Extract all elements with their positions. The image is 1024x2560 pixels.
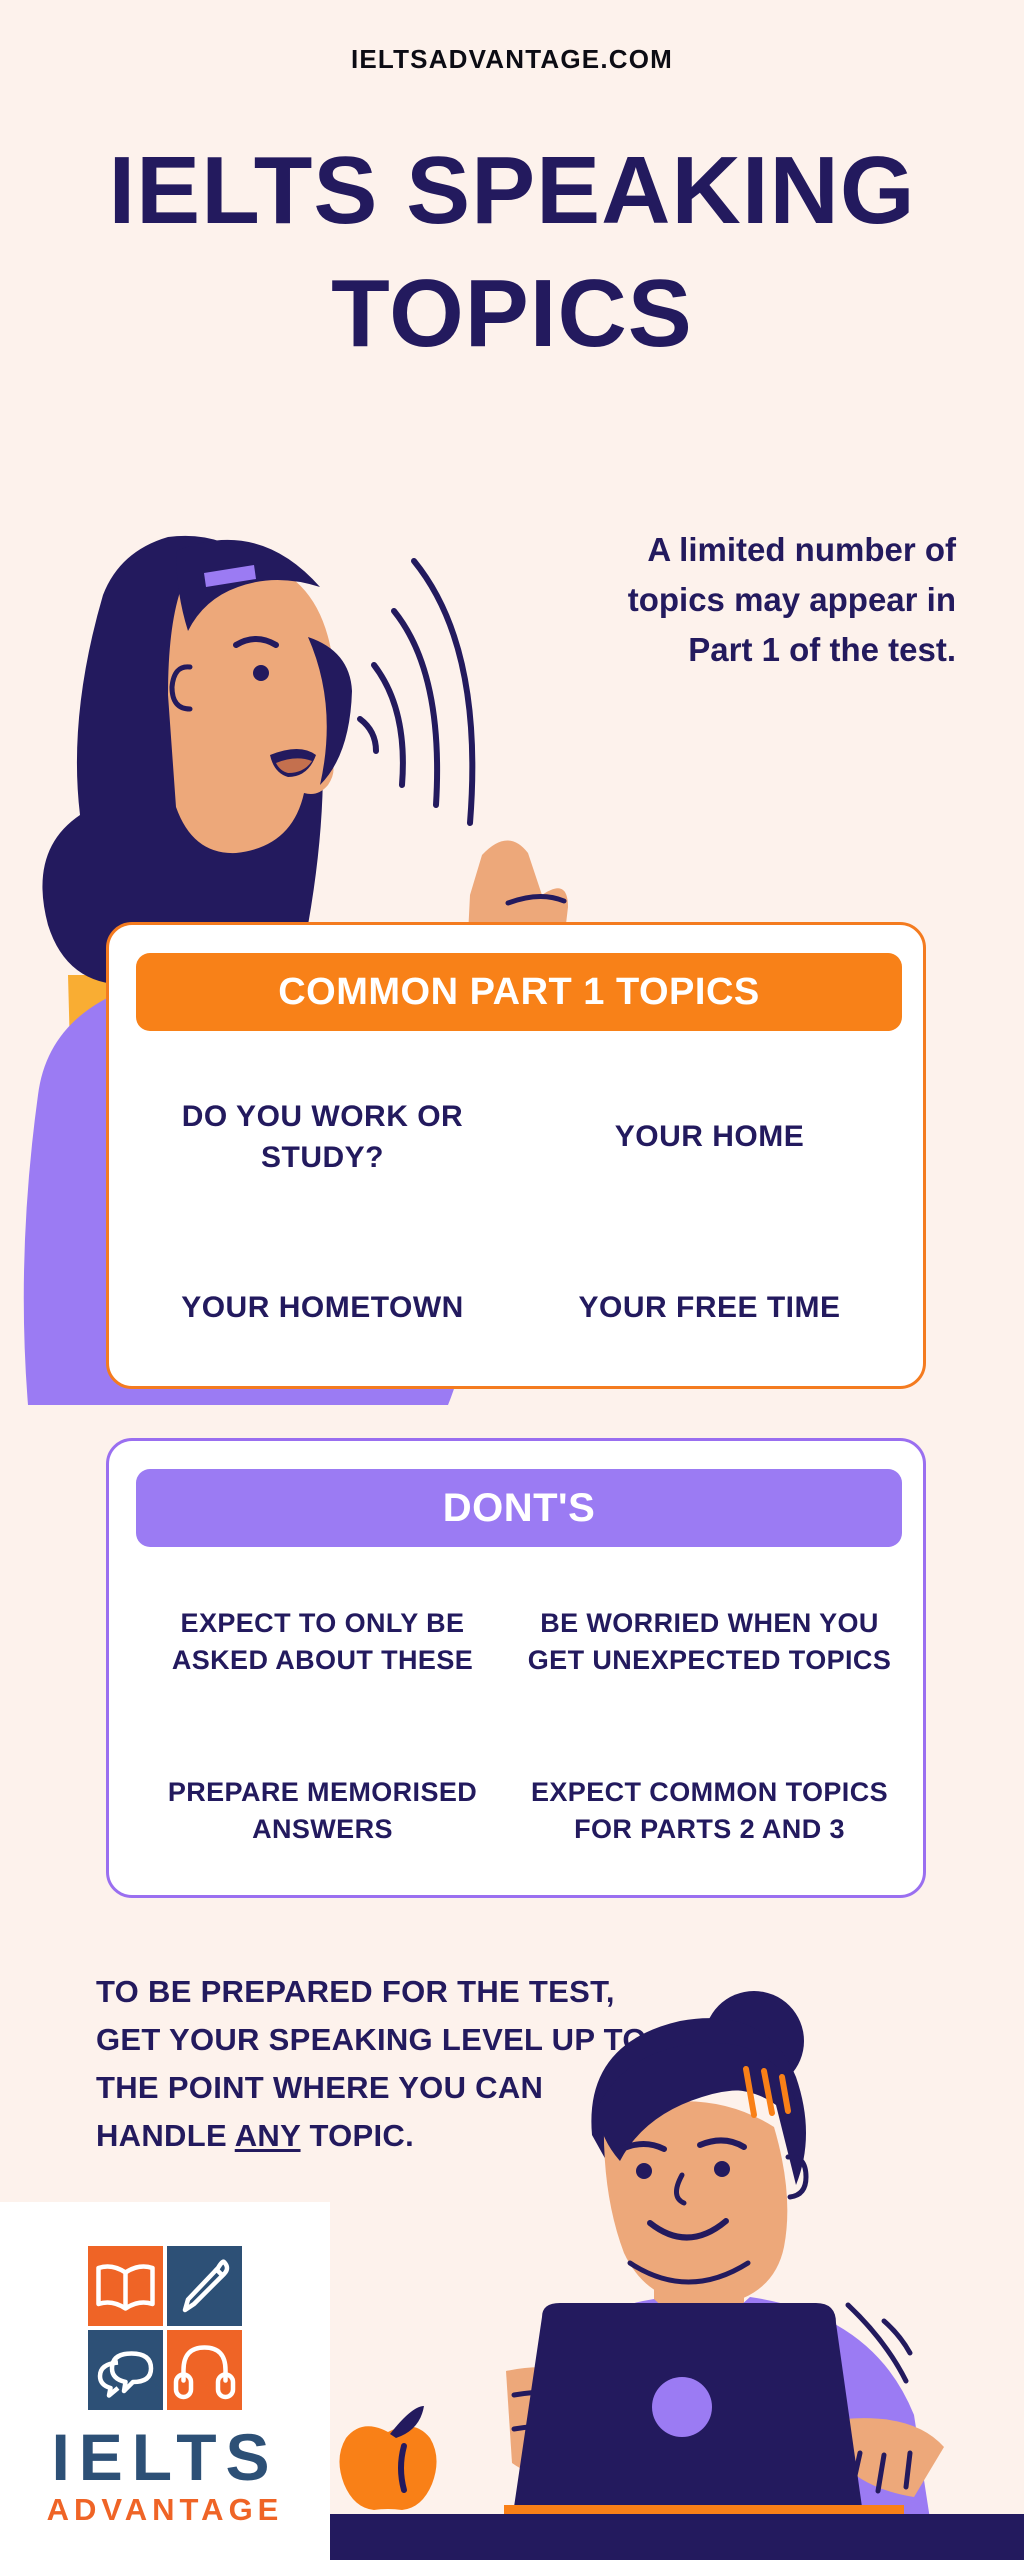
dont-item: BE WORRIED WHEN YOU GET UNEXPECTED TOPIC… [516,1561,903,1722]
apple-illustration [328,2396,448,2516]
book-icon [88,2246,163,2326]
ielts-advantage-logo: IELTS ADVANTAGE [0,2202,330,2560]
outro-suffix: TOPIC. [301,2118,415,2153]
page-title: IELTS SPEAKING TOPICS [0,130,1024,376]
speech-bubbles-icon [88,2330,163,2410]
logo-primary-text: IELTS [51,2424,278,2490]
dont-item: EXPECT COMMON TOPICS FOR PARTS 2 AND 3 [516,1730,903,1891]
common-part1-topics-card: COMMON PART 1 TOPICS DO YOU WORK OR STUD… [106,922,926,1389]
card-banner-topics: COMMON PART 1 TOPICS [136,953,902,1031]
card-banner-donts: DONT'S [136,1469,902,1547]
outro-prefix: HANDLE [96,2118,235,2153]
donts-grid: EXPECT TO ONLY BE ASKED ABOUT THESE BE W… [129,1561,903,1891]
laptop-woman-illustration [444,1985,1024,2545]
logo-icon-grid [88,2246,242,2400]
dont-item: EXPECT TO ONLY BE ASKED ABOUT THESE [129,1561,516,1722]
headphones-icon [167,2330,242,2410]
dont-item: PREPARE MEMORISED ANSWERS [129,1730,516,1891]
topic-item: YOUR HOMETOWN [129,1244,516,1373]
topics-grid: DO YOU WORK OR STUDY? YOUR HOME YOUR HOM… [129,1053,903,1373]
topic-item: YOUR FREE TIME [516,1244,903,1373]
site-url: IELTSADVANTAGE.COM [0,44,1024,75]
topic-item: DO YOU WORK OR STUDY? [129,1053,516,1222]
topic-item: YOUR HOME [516,1053,903,1222]
pen-icon [167,2246,242,2326]
intro-paragraph: A limited number of topics may appear in… [576,525,956,675]
desk-bar [290,2514,1024,2560]
outro-emphasis: ANY [235,2118,301,2153]
donts-card: DONT'S EXPECT TO ONLY BE ASKED ABOUT THE… [106,1438,926,1898]
logo-secondary-text: ADVANTAGE [47,2494,284,2525]
